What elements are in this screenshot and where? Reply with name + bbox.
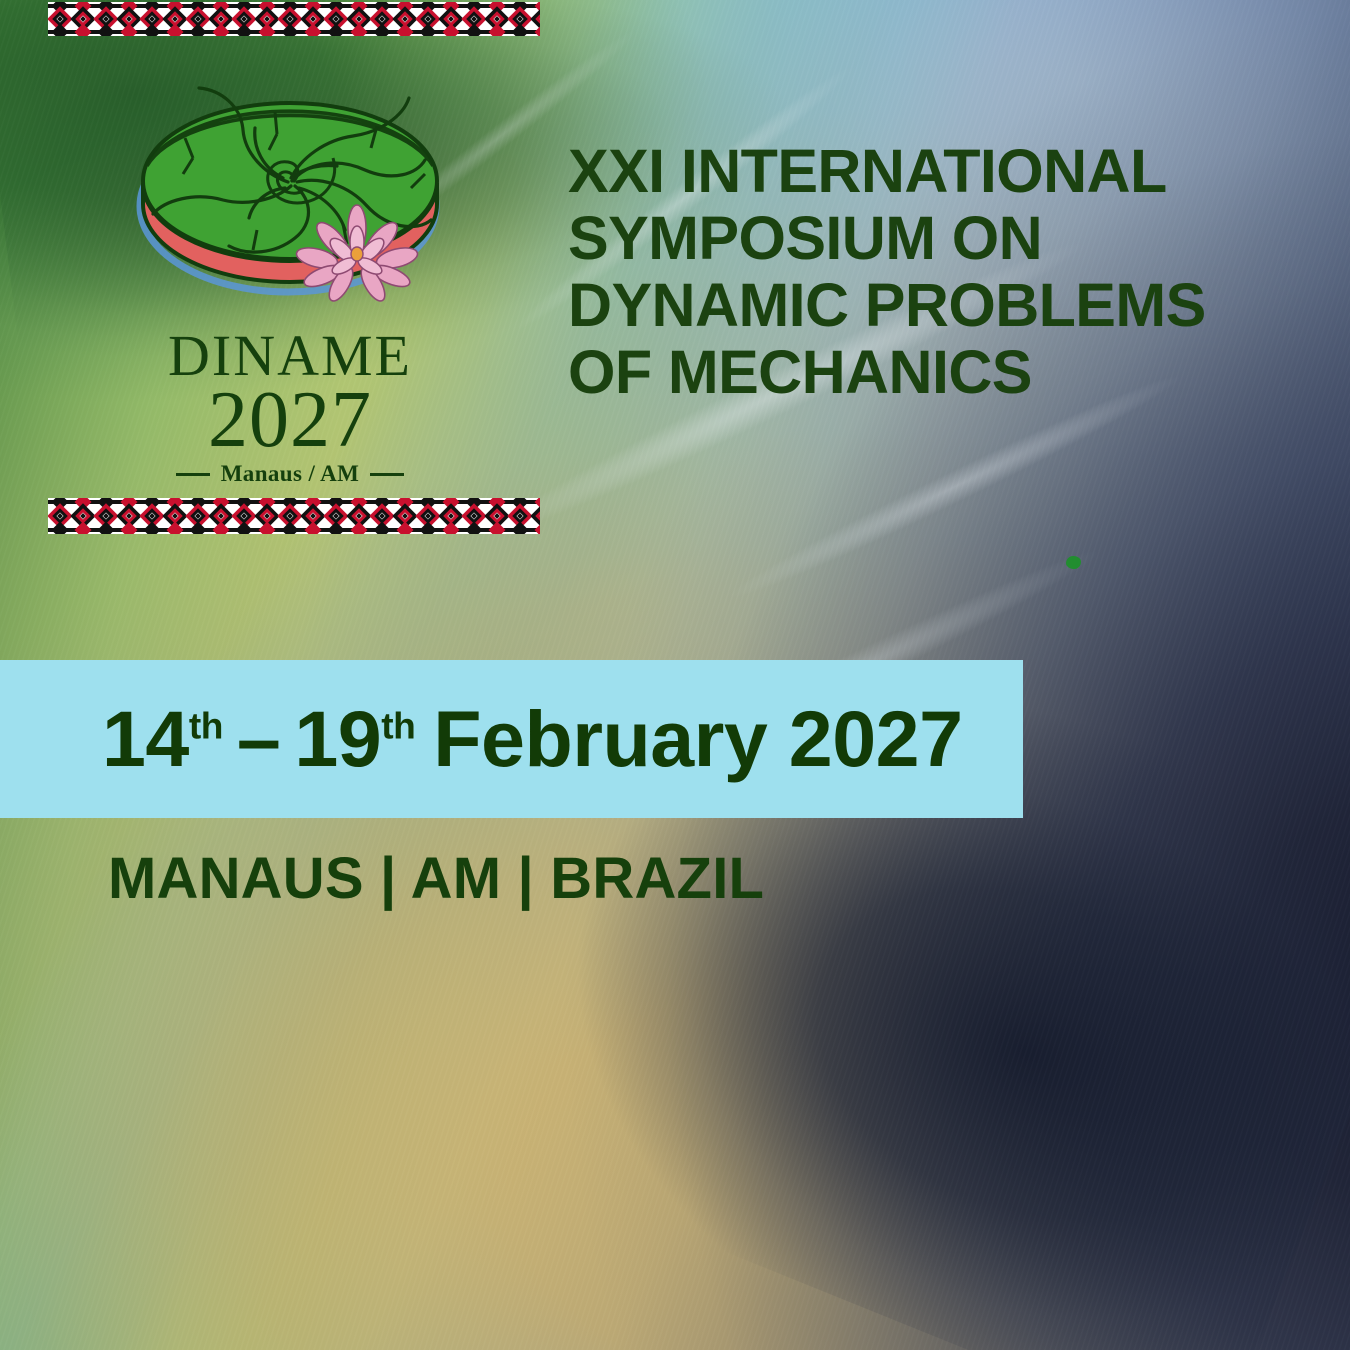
date-start-suffix: th [189,705,223,747]
background-river-islet [1066,556,1081,569]
pattern-diamond-tile [416,504,439,528]
pattern-diamond-tile [140,504,163,528]
pattern-diamond-tile [301,504,324,528]
pattern-diamond-tile [278,504,301,528]
date-end-suffix: th [381,705,415,747]
title-line-3: DYNAMIC PROBLEMS [568,272,1268,339]
indigenous-border-bottom [48,498,540,534]
pattern-diamond-tile [117,504,140,528]
pattern-diamond-tile [462,8,485,30]
conference-poster: DINAME 2027 Manaus / AM XXI INTERNATIONA… [0,0,1350,1350]
pattern-diamond-tile [71,8,94,30]
pattern-diamond-tile [462,504,485,528]
pattern-diamond-tile [232,8,255,30]
city-dash-left [176,473,210,476]
pattern-diamond-tile [324,8,347,30]
symposium-title: XXI INTERNATIONAL SYMPOSIUM ON DYNAMIC P… [568,138,1268,406]
title-line-2: SYMPOSIUM ON [568,205,1268,272]
pattern-diamond-tile [255,8,278,30]
pattern-diamond-tile [416,8,439,30]
indigenous-border-top [48,2,540,36]
date-end-day: 19 [294,694,381,783]
date-start-day: 14 [102,694,189,783]
event-date-banner: 14th–19thFebruary 2027 [0,660,1023,818]
pattern-diamond-tile [163,8,186,30]
pattern-diamond-tile [485,8,508,30]
pattern-diamond-tile [209,504,232,528]
diname-year: 2027 [125,384,455,458]
pattern-diamond-tile [370,8,393,30]
pattern-diamond-tile [393,8,416,30]
pattern-diamond-tile [439,8,462,30]
pattern-diamond-tile [94,8,117,30]
pattern-diamond-tile [186,504,209,528]
city-label: Manaus / AM [221,461,360,487]
pattern-diamond-tile [94,504,117,528]
title-line-1: XXI INTERNATIONAL [568,138,1268,205]
pattern-diamond-tile [232,504,255,528]
pattern-diamond-tile [186,8,209,30]
city-dash-right [370,473,404,476]
pattern-diamond-tile [71,504,94,528]
pattern-diamond-tile [393,504,416,528]
pattern-diamond-tile [163,504,186,528]
pattern-diamond-tile [117,8,140,30]
pattern-diamond-tile [508,504,531,528]
pattern-diamond-tile [531,8,540,30]
pattern-diamond-tile [370,504,393,528]
pattern-diamond-tile [255,504,278,528]
pattern-diamond-tile [347,504,370,528]
date-separator: – [223,694,294,783]
event-location: MANAUS | AM | BRAZIL [108,845,764,912]
pattern-diamond-tile [508,8,531,30]
pattern-tiles-top [48,8,540,30]
pattern-diamond-tile [278,8,301,30]
pattern-diamond-tile [531,504,540,528]
pattern-diamond-tile [209,8,232,30]
pattern-diamond-tile [485,504,508,528]
victoria-amazonica-lily-pad-icon [125,78,455,328]
pattern-diamond-tile [324,504,347,528]
pattern-tiles-bottom [48,504,540,528]
pattern-diamond-tile [301,8,324,30]
pattern-diamond-tile [347,8,370,30]
diname-logo: DINAME 2027 Manaus / AM [125,78,455,478]
date-month-year: February 2027 [415,694,962,783]
pattern-diamond-tile [48,8,71,30]
diname-wordmark: DINAME 2027 Manaus / AM [125,328,455,487]
pattern-diamond-tile [48,504,71,528]
title-line-4: OF MECHANICS [568,339,1268,406]
diname-city: Manaus / AM [125,461,455,487]
event-date-text: 14th–19thFebruary 2027 [102,693,963,785]
pattern-diamond-tile [439,504,462,528]
pattern-diamond-tile [140,8,163,30]
